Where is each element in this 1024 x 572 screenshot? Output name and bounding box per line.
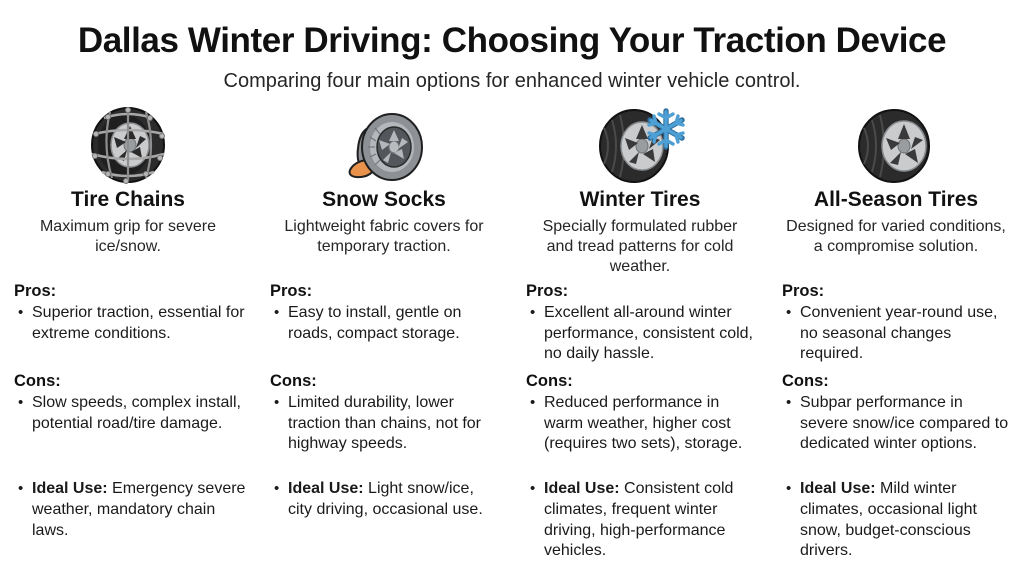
list-item: Subpar performance in severe snow/ice co… (782, 393, 1014, 455)
header: Dallas Winter Driving: Choosing Your Tra… (0, 0, 1024, 93)
pros-list: Excellent all-around winter performance,… (526, 303, 758, 365)
list-item: Easy to install, gentle on roads, compac… (270, 303, 502, 345)
column-title: Tire Chains (14, 188, 242, 212)
ideal-use-list: Ideal Use: Mild winter climates, occasio… (782, 479, 1014, 562)
column-title: Winter Tires (526, 188, 754, 212)
column-winter-tires: Winter Tires Specially formulated rubber… (512, 104, 768, 572)
cons-list: Subpar performance in severe snow/ice co… (782, 393, 1014, 455)
cons-list: Limited durability, lower traction than … (270, 393, 502, 455)
cons-label: Cons: (270, 372, 502, 392)
pros-label: Pros: (270, 282, 502, 302)
column-title: Snow Socks (270, 188, 498, 212)
list-item: Ideal Use: Light snow/ice, city driving,… (270, 479, 502, 521)
list-item: Ideal Use: Mild winter climates, occasio… (782, 479, 1014, 562)
ideal-use-section: Ideal Use: Consistent cold climates, fre… (526, 479, 758, 564)
column-snow-socks: Snow Socks Lightweight fabric covers for… (256, 104, 512, 572)
list-item: Ideal Use: Consistent cold climates, fre… (526, 479, 758, 562)
pros-label: Pros: (526, 282, 758, 302)
ideal-use-label: Ideal Use: (32, 480, 108, 497)
pros-section: Pros: Excellent all-around winter perfor… (526, 282, 758, 367)
tire-chains-icon (14, 104, 242, 186)
page-subtitle: Comparing four main options for enhanced… (0, 69, 1024, 93)
list-item: Reduced performance in warm weather, hig… (526, 393, 758, 455)
cons-list: Slow speeds, complex install, potential … (14, 393, 246, 435)
ideal-use-section: Ideal Use: Mild winter climates, occasio… (782, 479, 1014, 564)
winter-tire-icon (526, 104, 754, 186)
list-item: Slow speeds, complex install, potential … (14, 393, 246, 435)
pros-list: Superior traction, essential for extreme… (14, 303, 246, 345)
snow-sock-icon (270, 104, 498, 186)
list-item: Limited durability, lower traction than … (270, 393, 502, 455)
cons-section: Cons: Subpar performance in severe snow/… (782, 372, 1014, 457)
ideal-use-list: Ideal Use: Light snow/ice, city driving,… (270, 479, 502, 521)
list-item: Excellent all-around winter performance,… (526, 303, 758, 365)
column-description: Designed for varied conditions, a compro… (782, 217, 1010, 257)
cons-label: Cons: (526, 372, 758, 392)
ideal-use-label: Ideal Use: (288, 480, 364, 497)
ideal-use-list: Ideal Use: Emergency severe weather, man… (14, 479, 246, 541)
list-item: Superior traction, essential for extreme… (14, 303, 246, 345)
comparison-columns: Tire Chains Maximum grip for severe ice/… (0, 104, 1024, 572)
cons-label: Cons: (782, 372, 1014, 392)
column-description: Maximum grip for severe ice/snow. (14, 217, 242, 257)
page-title: Dallas Winter Driving: Choosing Your Tra… (0, 22, 1024, 61)
infographic-root: Dallas Winter Driving: Choosing Your Tra… (0, 0, 1024, 572)
column-description: Lightweight fabric covers for temporary … (270, 217, 498, 257)
column-all-season-tires: All-Season Tires Designed for varied con… (768, 104, 1024, 572)
pros-section: Pros: Convenient year-round use, no seas… (782, 282, 1014, 367)
ideal-use-section: Ideal Use: Light snow/ice, city driving,… (270, 479, 502, 523)
column-tire-chains: Tire Chains Maximum grip for severe ice/… (0, 104, 256, 572)
ideal-use-section: Ideal Use: Emergency severe weather, man… (14, 479, 246, 543)
column-title: All-Season Tires (782, 188, 1010, 212)
pros-section: Pros: Easy to install, gentle on roads, … (270, 282, 502, 346)
cons-section: Cons: Limited durability, lower traction… (270, 372, 502, 457)
pros-list: Convenient year-round use, no seasonal c… (782, 303, 1014, 365)
cons-label: Cons: (14, 372, 246, 392)
ideal-use-list: Ideal Use: Consistent cold climates, fre… (526, 479, 758, 562)
cons-section: Cons: Reduced performance in warm weathe… (526, 372, 758, 457)
list-item: Convenient year-round use, no seasonal c… (782, 303, 1014, 365)
pros-list: Easy to install, gentle on roads, compac… (270, 303, 502, 345)
list-item: Ideal Use: Emergency severe weather, man… (14, 479, 246, 541)
ideal-use-label: Ideal Use: (544, 480, 620, 497)
all-season-tire-icon (782, 104, 1010, 186)
pros-section: Pros: Superior traction, essential for e… (14, 282, 246, 346)
pros-label: Pros: (14, 282, 246, 302)
cons-section: Cons: Slow speeds, complex install, pote… (14, 372, 246, 436)
pros-label: Pros: (782, 282, 1014, 302)
ideal-use-label: Ideal Use: (800, 480, 876, 497)
cons-list: Reduced performance in warm weather, hig… (526, 393, 758, 455)
column-description: Specially formulated rubber and tread pa… (526, 217, 754, 277)
